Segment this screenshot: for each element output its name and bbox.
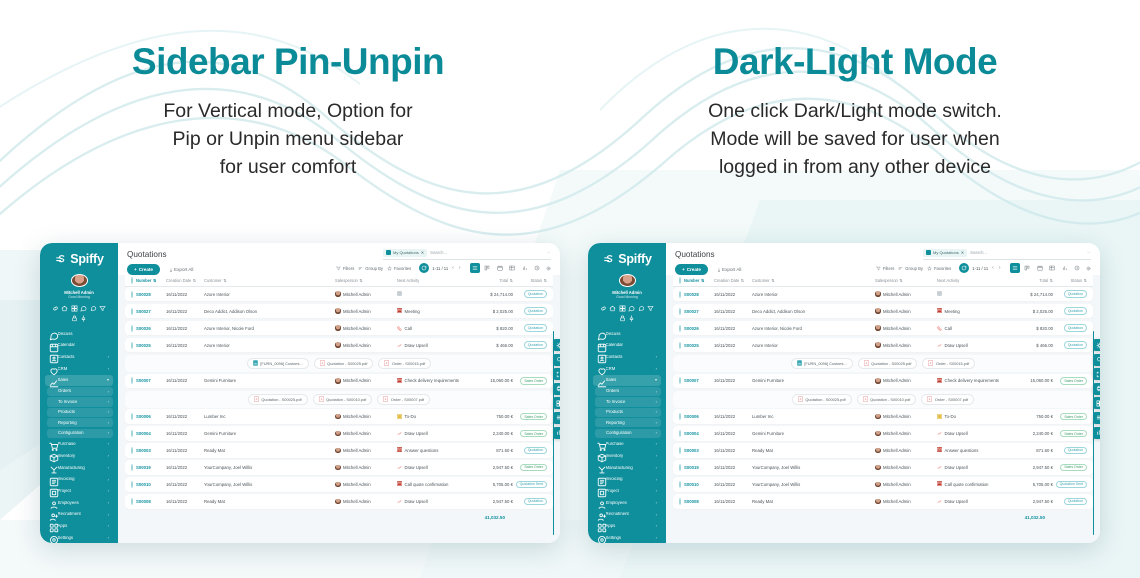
next-activity-label: Draw Upsell [945,465,968,470]
favorites-button-left[interactable]: Favorites [387,266,411,271]
kanban-view-icon-right[interactable] [1022,263,1032,273]
cell-salesperson: Mitchell Admin [875,308,937,314]
cell-next-activity[interactable]: Call [937,326,1011,331]
calendar-view-icon-right[interactable] [1035,263,1045,273]
cell-creation-date: 16/11/2022 [166,482,204,487]
sidebar-item-orders-left[interactable]: Orders › [47,387,113,396]
search-facet-my-quotations-right[interactable]: My Quotations ✕ [923,249,967,257]
chart-rail-icon-right[interactable] [1093,427,1100,439]
avatar-left[interactable] [71,274,88,287]
status-badge: Quotation [1064,447,1087,455]
cell-number[interactable]: S00003 [684,448,714,453]
cell-number[interactable]: S00019 [684,465,714,470]
table-row-right[interactable]: S00008 16/11/2022 Ready Mat Mitchell Adm… [673,494,1093,509]
attachment-name: Quotation - S00025.pdf [805,397,845,402]
chevron-right-icon: › [656,367,657,371]
sidebar-item-label: Orders [58,389,105,393]
cell-number[interactable]: S00004 [684,431,714,436]
cell-status: Quotation Sent [1053,481,1087,489]
table-row-right[interactable]: S00003 16/11/2022 Ready Mat Mitchell Adm… [673,443,1093,458]
column-header-next-activity[interactable]: Next Activity [397,278,419,283]
cell-total: 2,947.50 € [1011,499,1053,504]
cell-creation-date: 16/11/2022 [166,499,204,504]
cell-creation-date: 16/11/2022 [166,448,204,453]
attachment-chip[interactable]: [FURN_0096] Customi... [791,358,853,369]
settings-toggle-left[interactable] [546,266,551,271]
cell-customer: YourCompany, Joel Willis [204,482,335,487]
settings-gear-icon-left[interactable] [553,339,560,351]
messages-icon[interactable] [80,305,87,312]
column-header-status[interactable]: Status [1070,278,1082,283]
attachment-chip[interactable]: A Order - S00015.pdf [922,358,975,369]
sidebar-item-inventory-left[interactable]: Inventory › [45,451,113,461]
sidebar-item-manufacturing-left[interactable]: Manufacturing › [45,463,113,473]
table-row-left[interactable]: S00019 16/11/2022 YourCompany, Joel Will… [125,460,553,475]
filter-toolbar-right: Filters Group By Favorites 1-11 / 11 ‹ › [876,263,1091,273]
sidebar-item-reporting-right[interactable]: Reporting › [595,418,661,427]
cell-number[interactable]: S00010 [684,482,714,487]
sidebar-item-crm-right[interactable]: CRM › [593,364,661,374]
create-button-label: Create [139,267,153,272]
pivot-view-icon-left[interactable] [507,263,517,273]
cell-number[interactable]: S00025 [684,343,714,348]
cell-customer: Ready Mat [752,499,875,504]
cell-number[interactable]: S00004 [136,431,166,436]
list-rail-icon-right[interactable] [1093,412,1100,424]
table-row-left[interactable]: S00003 16/11/2022 Ready Mat Mitchell Adm… [125,443,553,458]
sidebar-item-label: Calendar [606,343,658,347]
sidebar-item-configuration-left[interactable]: Configuration › [47,429,113,438]
cell-number[interactable]: S00010 [136,482,166,487]
sidebar-item-label: Reporting [58,421,105,425]
cell-next-activity[interactable]: Draw Upsell [937,465,1011,470]
activity-view-icon-right[interactable] [1072,263,1082,273]
table-row-right[interactable]: S00004 16/11/2022 Gemini Furniture Mitch… [673,426,1093,441]
cell-number[interactable]: S00027 [684,309,714,314]
cell-customer: Azure Interior [204,292,335,297]
sidebar-item-label: CRM [58,367,105,371]
group-by-button-left[interactable]: Group By [358,266,383,271]
pdf-file-icon: A [927,396,932,402]
cell-number[interactable]: S00003 [136,448,166,453]
cell-salesperson: Mitchell Admin [875,482,937,488]
pager-next-right[interactable]: › [998,265,1002,271]
attachment-chip[interactable]: A Order - S00015.pdf [378,358,431,369]
cell-creation-date: 16/11/2022 [166,431,204,436]
sidebar-item-settings-left[interactable]: Settings › [45,533,113,543]
cell-customer: YourCompany, Joel Willis [752,465,875,470]
table-row-right[interactable]: S00007 16/11/2022 Gemini Furniture Mitch… [673,374,1093,389]
table-wrapper-right: Number⇅ Creation Date⇅ Customer⇅ Salespe… [666,275,1100,543]
status-badge: Sales Order [1060,413,1087,421]
salesperson-avatar [335,448,341,454]
app-screenshots: Spiffy Mitchell Admin Good Morning Discu… [0,243,1140,553]
app-window-right: Spiffy Mitchell Admin Good Morning Discu… [588,243,1100,543]
cell-status: Sales Order [513,413,547,421]
sidebar-item-discuss-left[interactable]: Discuss [45,329,113,339]
create-button-left[interactable]: + Create [127,264,160,275]
cell-number[interactable]: S00027 [136,309,166,314]
cell-next-activity[interactable]: Draw Upsell [937,343,1011,348]
sidebar-item-sales-left[interactable]: Sales ▾ [45,375,113,385]
pdf-file-icon: A [319,396,324,402]
salesperson-name: Mitchell Admin [883,499,911,504]
plus-icon: + [682,267,685,272]
expand-rail-icon-right[interactable] [1093,368,1100,380]
table-row-right[interactable]: S00025 16/11/2022 Azure Interior Mitchel… [673,338,1093,353]
graph-view-icon-left[interactable] [520,263,530,273]
sidebar-item-label: Invoicing [606,477,653,481]
search-bar-right[interactable]: My Quotations ✕ Search... [923,249,1091,260]
export-all-button-left[interactable]: ⤓ Export All [165,264,198,275]
sidebar-item-recruitment-left[interactable]: Recruitment › [45,509,113,519]
status-badge: Quotation [1064,290,1087,298]
inventory-icon [597,453,603,459]
table-row-left[interactable]: S00004 16/11/2022 Gemini Furniture Mitch… [125,426,553,441]
chevron-right-icon: › [656,442,657,446]
cell-next-activity[interactable]: Call quote confirmation [937,481,1011,487]
purchase-icon [597,442,603,448]
print-rail-icon-right[interactable] [1093,383,1100,395]
attachment-name: [FURN_0096] Customi... [804,361,846,366]
pager-prev-right[interactable]: ‹ [991,265,995,271]
attachment-name: Quotation - S00010.pdf [326,397,366,402]
todo-icon [397,414,402,420]
search-bar-left[interactable]: My Quotations ✕ Search... [383,249,551,260]
table-row-right[interactable]: S00026 16/11/2022 Azure Interior, Nicole… [673,321,1093,336]
sidebar-nav-left: Discuss Calendar Contacts › CRM › Sales … [45,329,113,543]
sidebar-item-label: Calendar [58,343,110,347]
group-by-button-right[interactable]: Group By [898,266,923,271]
sidebar-item-inventory-right[interactable]: Inventory › [593,451,661,461]
export-all-button-right[interactable]: ⤓ Export All [713,264,746,275]
refresh-icon-left[interactable] [419,263,429,273]
cell-number[interactable]: S00007 [136,378,166,383]
sort-icon: ⇅ [741,278,744,283]
cell-number[interactable]: S00006 [684,414,714,419]
column-header-number[interactable]: Number [136,278,151,283]
table-row-right[interactable]: S00006 16/11/2022 Lumber Inc Mitchell Ad… [673,409,1093,424]
attachment-name: Order - S00007.pdf [391,397,424,402]
cell-next-activity[interactable]: Meeting [397,308,471,314]
pager-prev-left[interactable]: ‹ [451,265,455,271]
pdf-file-icon: A [863,396,868,402]
column-header-customer[interactable]: Customer [752,278,770,283]
cell-next-activity[interactable]: Draw Upsell [397,431,471,436]
status-badge: Sales Order [520,464,547,472]
cell-number[interactable]: S00028 [684,292,714,297]
cell-next-activity[interactable]: Check delivery requirements [397,378,471,384]
cell-customer: Azure Interior [752,343,875,348]
sidebar-item-apps-right[interactable]: Apps › [593,521,661,531]
pin-icon[interactable] [80,315,87,322]
column-header-number[interactable]: Number [684,278,699,283]
cell-status: Quotation [1053,447,1087,455]
avatar-right[interactable] [619,274,636,287]
brand-left[interactable]: Spiffy [54,252,104,266]
next-activity-label: Check delivery requirements [405,378,459,383]
star-icon [927,266,932,271]
home-icon[interactable] [61,305,68,312]
sidebar-item-settings-right[interactable]: Settings › [593,533,661,543]
sidebar-item-project-right[interactable]: Project › [593,486,661,496]
cell-number[interactable]: S00008 [136,499,166,504]
cell-next-activity[interactable]: Check delivery requirements [937,378,1011,384]
cell-next-activity[interactable]: Call quote confirmation [397,481,471,487]
refresh-icon-right[interactable] [959,263,969,273]
favorites-button-right[interactable]: Favorites [927,266,951,271]
table-row-left[interactable]: S00028 16/11/2022 Azure Interior Mitchel… [125,287,553,302]
sidebar-item-invoicing-right[interactable]: Invoicing › [593,474,661,484]
close-icon[interactable]: ✕ [961,250,964,255]
column-header-total[interactable]: Total [1039,278,1048,283]
search-facet-my-quotations-left[interactable]: My Quotations ✕ [383,249,427,257]
cell-number[interactable]: S00007 [684,378,714,383]
table-wrapper-left: Number⇅ Creation Date⇅ Customer⇅ Salespe… [118,275,560,543]
cell-total: 750.00 € [471,414,513,419]
sidebar-item-invoicing-left[interactable]: Invoicing › [45,474,113,484]
column-header-status[interactable]: Status [530,278,542,283]
cell-next-activity[interactable]: Answer questions [937,447,1011,453]
filters-button-right[interactable]: Filters [876,266,894,271]
headline-title-right: Dark-Light Mode [570,42,1140,83]
settings-gear-icon-right[interactable] [1093,339,1100,351]
search-rail-icon-left[interactable] [553,354,560,366]
chevron-right-icon: › [656,390,657,394]
home-icon[interactable] [609,305,616,312]
download-icon: ⤓ [170,267,172,272]
attachment-chip[interactable]: A Quotation - S00025.pdf [858,358,918,369]
cell-next-activity[interactable]: Answer questions [397,447,471,453]
calendar-view-icon-left[interactable] [495,263,505,273]
table-row-left[interactable]: S00006 16/11/2022 Lumber Inc Mitchell Ad… [125,409,553,424]
column-header-creation-date[interactable]: Creation Date [166,278,191,283]
column-header-customer[interactable]: Customer [204,278,222,283]
brand-right[interactable]: Spiffy [602,252,652,266]
sidebar-item-calendar-left[interactable]: Calendar [45,340,113,350]
grid-rail-icon-left[interactable] [553,397,560,409]
sidebar-item-contacts-right[interactable]: Contacts › [593,352,661,362]
chevron-right-icon: › [656,466,657,470]
grid-icon[interactable] [71,305,78,312]
cell-status: Quotation [513,324,547,332]
list-view-icon-left[interactable] [470,263,480,273]
sidebar-item-purchase-right[interactable]: Purchase › [593,439,661,449]
column-header-salesperson[interactable]: Salesperson [335,278,358,283]
filter-icon[interactable] [99,305,106,312]
grid-rail-icon-right[interactable] [1093,397,1100,409]
crm-icon [49,366,55,372]
activity-view-icon-left[interactable] [532,263,542,273]
cell-next-activity[interactable]: To-Do [397,414,471,420]
cell-next-activity[interactable]: Draw Upsell [937,499,1011,504]
chevron-right-icon: › [656,410,657,414]
sidebar-item-purchase-left[interactable]: Purchase › [45,439,113,449]
grid-icon[interactable] [619,305,626,312]
sidebar-item-configuration-right[interactable]: Configuration › [595,429,661,438]
cell-number[interactable]: S00019 [136,465,166,470]
chevron-down-icon-right[interactable] [1086,250,1091,255]
sidebar-item-label: Manufacturing [58,466,105,470]
attachment-chip[interactable]: A Order - S00007.pdf [377,394,430,405]
sidebar-item-project-left[interactable]: Project › [45,486,113,496]
table-row-left[interactable]: S00025 16/11/2022 Azure Interior Mitchel… [125,338,553,353]
status-badge: Quotation [1064,498,1087,506]
sidebar-item-apps-left[interactable]: Apps › [45,521,113,531]
sidebar-item-label: Inventory [606,454,653,458]
sidebar-item-products-left[interactable]: Products › [47,408,113,417]
sidebar-item-label: Sales [606,378,652,382]
sidebar-item-employees-left[interactable]: Employees › [45,498,113,508]
cell-next-activity[interactable] [937,291,1011,297]
sidebar-item-products-right[interactable]: Products › [595,408,661,417]
headline-subtitle-right: One click Dark/Light mode switch. Mode w… [570,97,1140,182]
pin-icon[interactable] [628,315,635,322]
chart-rail-icon-left[interactable] [553,427,560,439]
print-rail-icon-left[interactable] [553,383,560,395]
sidebar-item-discuss-right[interactable]: Discuss [593,329,661,339]
status-badge: Quotation Sent [1056,481,1087,489]
column-header-total[interactable]: Total [499,278,508,283]
table-row-left[interactable]: S00027 16/11/2022 Deco Addict, Addison O… [125,304,553,319]
cell-number[interactable]: S00025 [136,343,166,348]
attachment-chip[interactable]: A Quotation - S00025.pdf [248,394,308,405]
filter-icon[interactable] [647,305,654,312]
cell-total: 15,060.00 € [1011,378,1053,383]
attachment-row-right: A Quotation - S00025.pdf A Quotation - S… [673,391,1093,408]
sidebar-item-manufacturing-right[interactable]: Manufacturing › [593,463,661,473]
attachment-chip[interactable]: A Quotation - S00025.pdf [314,358,374,369]
todo-icon [937,414,942,420]
column-header-next-activity[interactable]: Next Activity [937,278,959,283]
attachment-chip[interactable]: A Quotation - S00010.pdf [857,394,917,405]
cell-total: 2,947.50 € [471,465,513,470]
cell-next-activity[interactable]: Draw Upsell [397,343,471,348]
sidebar-item-sales-right[interactable]: Sales ▾ [593,375,661,385]
cell-next-activity[interactable] [397,291,471,297]
salesperson-avatar [335,482,341,488]
pager-next-left[interactable]: › [458,265,462,271]
sidebar-item-orders-right[interactable]: Orders › [595,387,661,396]
close-icon[interactable]: ✕ [421,250,424,255]
messages-icon[interactable] [628,305,635,312]
sidebar-right: Spiffy Mitchell Admin Good Morning Discu… [588,243,666,543]
list-view-icon-right[interactable] [1010,263,1020,273]
chat-icon[interactable] [90,305,97,312]
cell-customer: Gemini Furniture [752,431,875,436]
sidebar-item-employees-right[interactable]: Employees › [593,498,661,508]
cell-salesperson: Mitchell Admin [335,499,397,505]
table-row-right[interactable]: S00027 16/11/2022 Deco Addict, Addison O… [673,304,1093,319]
table-row-left[interactable]: S00008 16/11/2022 Ready Mat Mitchell Adm… [125,494,553,509]
kanban-view-icon-left[interactable] [482,263,492,273]
filters-button-left[interactable]: Filters [336,266,354,271]
sidebar-item-to-invoice-right[interactable]: To Invoice › [595,397,661,406]
discuss-icon [597,331,603,337]
settings-toggle-right[interactable] [1086,266,1091,271]
sidebar-item-reporting-left[interactable]: Reporting › [47,418,113,427]
cell-number[interactable]: S00006 [136,414,166,419]
cell-next-activity[interactable]: To-Do [937,414,1011,420]
cell-status: Quotation [513,307,547,315]
table-row-left[interactable]: S00026 16/11/2022 Azure Interior, Nicole… [125,321,553,336]
create-button-right[interactable]: + Create [675,264,708,275]
funnel-icon [926,250,931,255]
chevron-right-icon: › [108,410,109,414]
sidebar-item-calendar-right[interactable]: Calendar [593,340,661,350]
sidebar-item-contacts-left[interactable]: Contacts › [45,352,113,362]
cell-next-activity[interactable]: Draw Upsell [397,499,471,504]
callconf-icon [937,481,942,487]
cell-number[interactable]: S00008 [684,499,714,504]
cell-next-activity[interactable]: Meeting [937,308,1011,314]
status-badge: Quotation [524,290,547,298]
pivot-view-icon-right[interactable] [1047,263,1057,273]
check-icon [937,378,942,384]
chat-icon[interactable] [638,305,645,312]
table-row-left[interactable]: S00010 16/11/2022 YourCompany, Joel Will… [125,477,553,492]
cell-number[interactable]: S00028 [136,292,166,297]
cell-number[interactable]: S00026 [136,326,166,331]
link-icon[interactable] [600,305,607,312]
salesperson-name: Mitchell Admin [343,326,371,331]
next-activity-label: Answer questions [945,448,979,453]
attachment-chip[interactable]: A Quotation - S00025.pdf [792,394,852,405]
cell-creation-date: 16/11/2022 [166,343,204,348]
status-badge: Sales Order [1060,464,1087,472]
attachment-chip[interactable]: A Order - S00007.pdf [921,394,974,405]
status-badge: Quotation [1064,307,1087,315]
filter-icon [876,266,881,271]
search-input-right[interactable]: Search... [970,250,1083,255]
cell-next-activity[interactable]: Call [397,326,471,331]
cell-salesperson: Mitchell Admin [335,291,397,297]
list-rail-icon-left[interactable] [553,412,560,424]
salesperson-avatar [875,342,881,348]
status-badge: Quotation [524,341,547,349]
search-input-left[interactable]: Search... [430,250,543,255]
chevron-down-icon-left[interactable] [546,250,551,255]
sidebar-item-label: Orders [606,389,653,393]
lock-icon[interactable] [619,315,626,322]
column-header-creation-date[interactable]: Creation Date [714,278,739,283]
attachment-chip[interactable]: [FURN_0096] Customi... [247,358,309,369]
table-row-left[interactable]: S00007 16/11/2022 Gemini Furniture Mitch… [125,374,553,389]
cell-next-activity[interactable]: Draw Upsell [937,431,1011,436]
sidebar-item-recruitment-right[interactable]: Recruitment › [593,509,661,519]
sidebar-item-to-invoice-left[interactable]: To Invoice › [47,397,113,406]
link-icon[interactable] [52,305,59,312]
sidebar-item-crm-left[interactable]: CRM › [45,364,113,374]
table-row-right[interactable]: S00019 16/11/2022 YourCompany, Joel Will… [673,460,1093,475]
expand-rail-icon-left[interactable] [553,368,560,380]
table-row-right[interactable]: S00010 16/11/2022 YourCompany, Joel Will… [673,477,1093,492]
cell-status: Quotation [513,498,547,506]
cell-customer: Gemini Furniture [204,378,335,383]
salesperson-avatar [875,448,881,454]
sidebar-item-label: Settings [606,536,653,540]
cell-status: Quotation Sent [513,481,547,489]
cell-next-activity[interactable]: Draw Upsell [397,465,471,470]
graph-view-icon-right[interactable] [1060,263,1070,273]
sidebar-item-label: Configuration [606,431,653,435]
table-row-right[interactable]: S00028 16/11/2022 Azure Interior Mitchel… [673,287,1093,302]
attachment-chip[interactable]: A Quotation - S00010.pdf [313,394,373,405]
column-header-salesperson[interactable]: Salesperson [875,278,898,283]
lock-icon[interactable] [71,315,78,322]
search-rail-icon-right[interactable] [1093,354,1100,366]
cell-number[interactable]: S00026 [684,326,714,331]
